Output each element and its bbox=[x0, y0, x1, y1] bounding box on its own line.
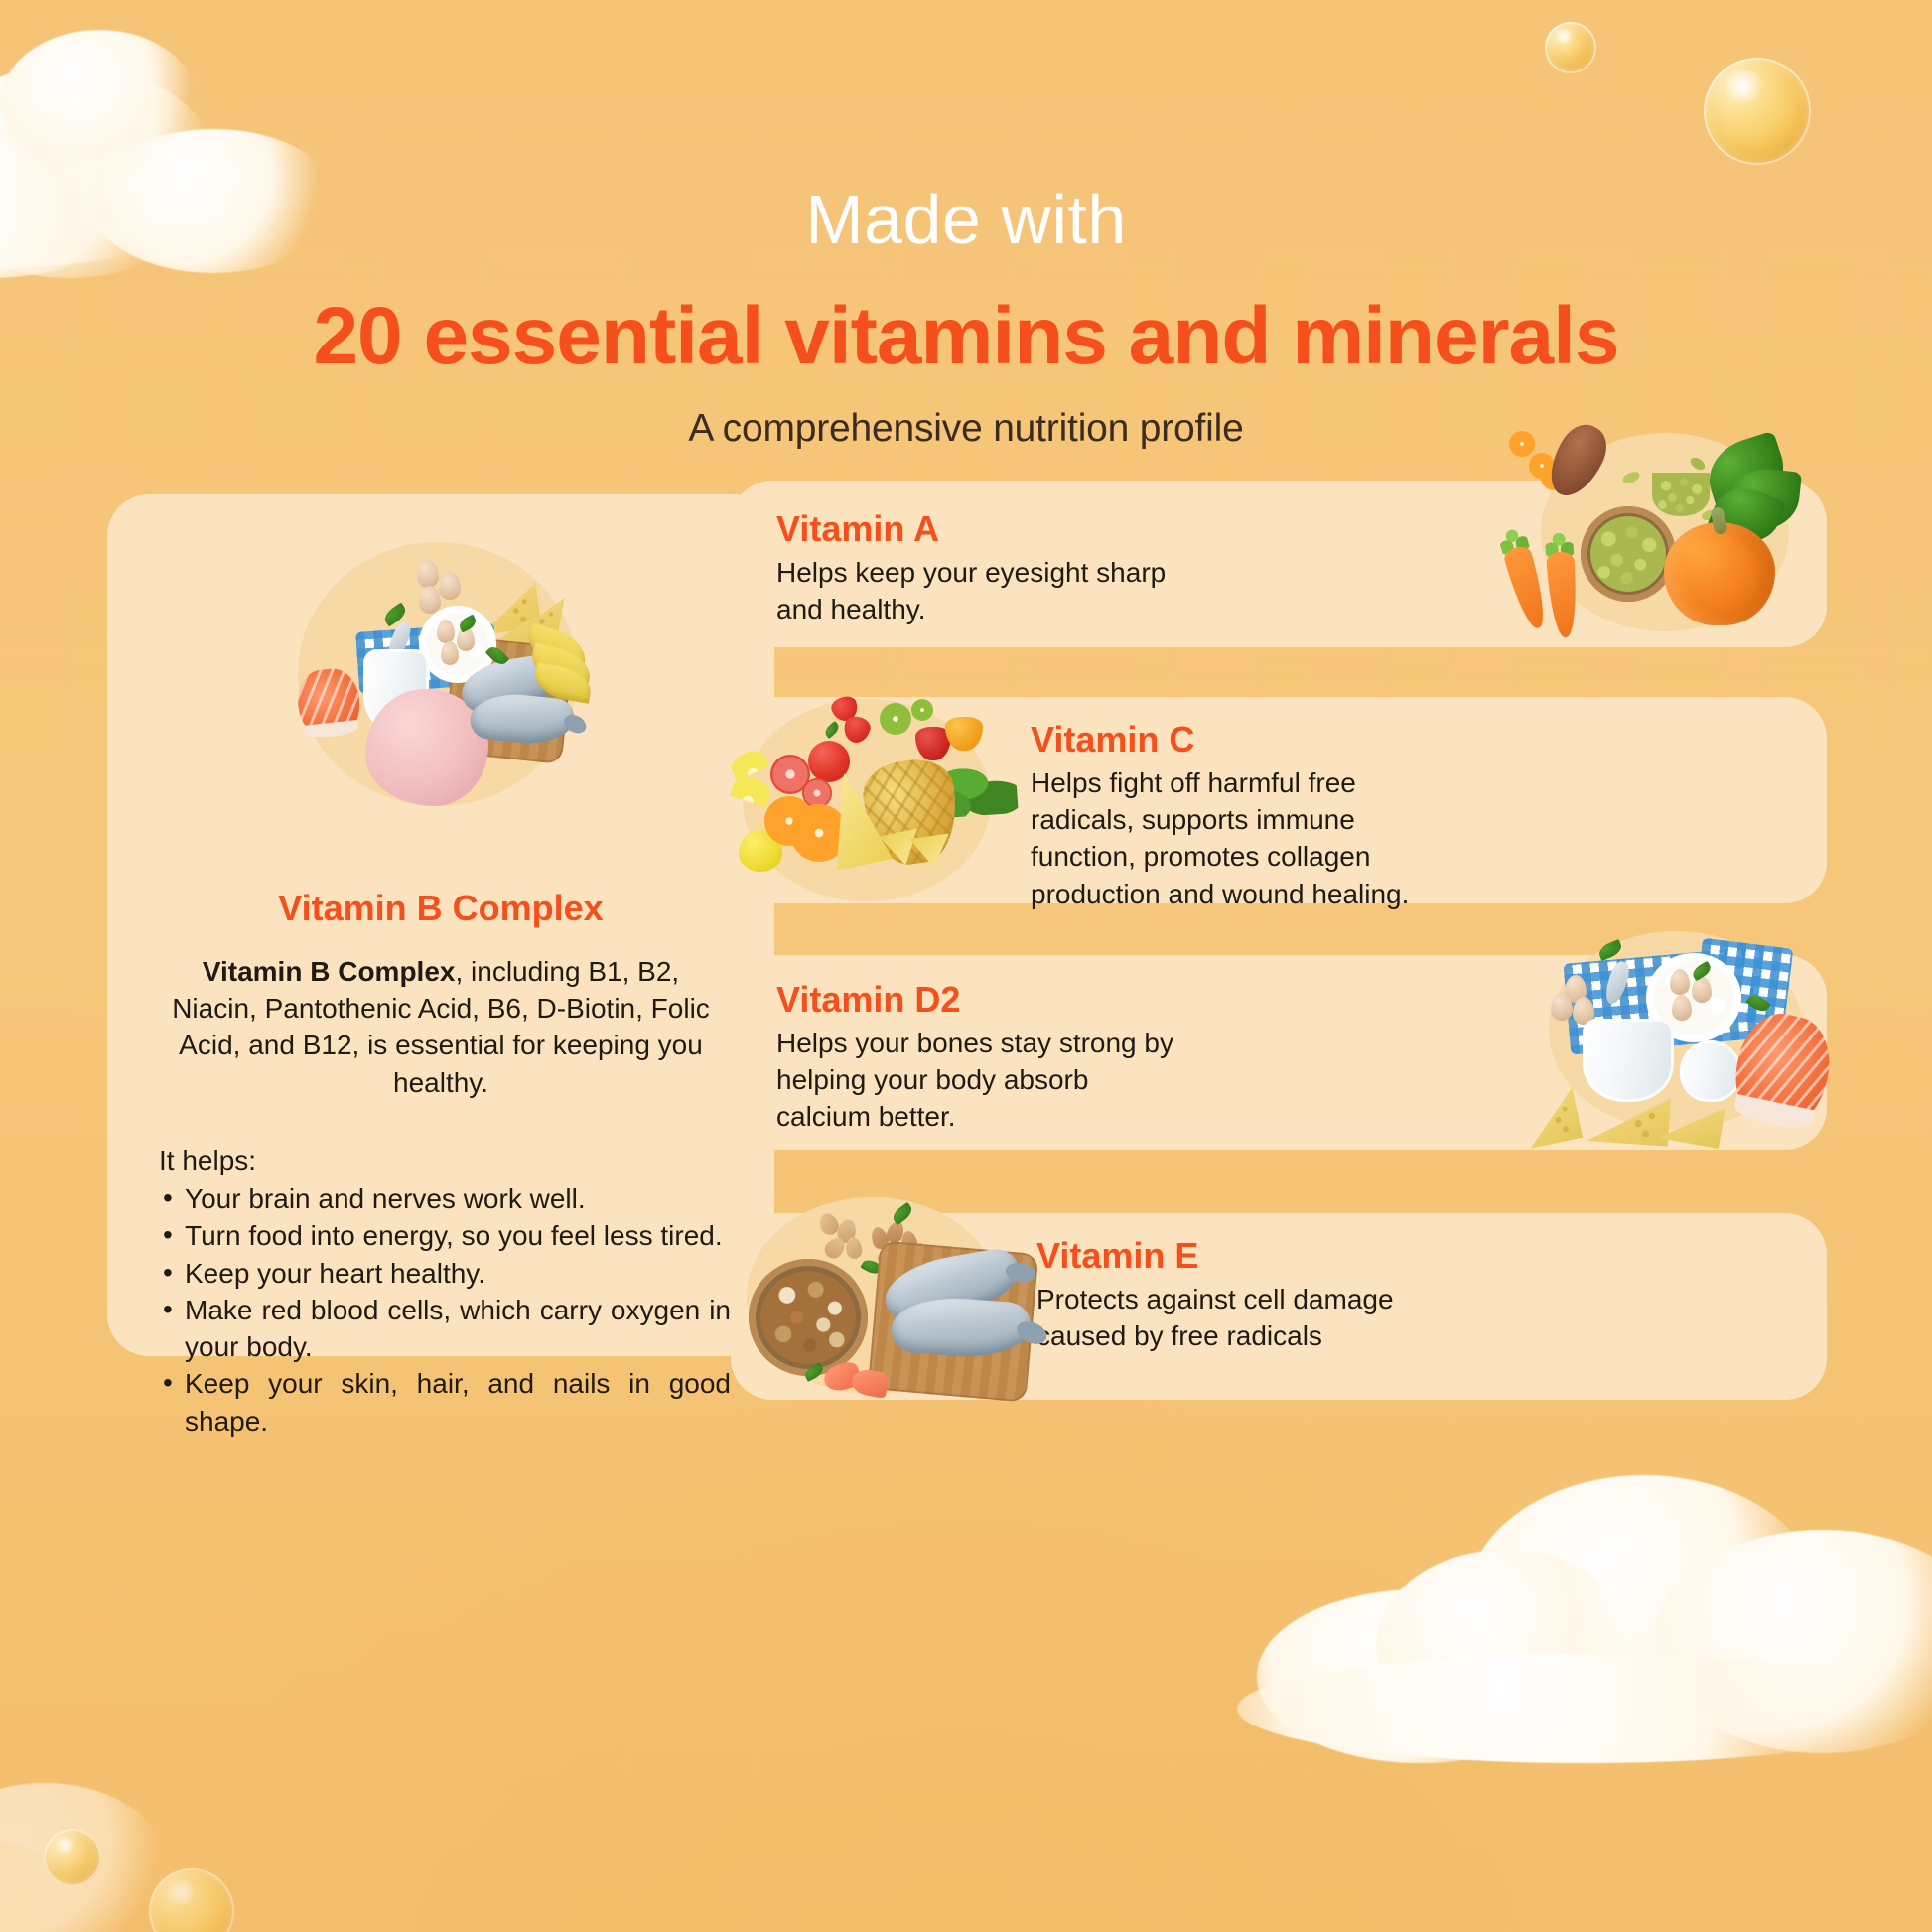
list-item: Turn food into energy, so you feel less … bbox=[159, 1217, 731, 1254]
vitamin-a-card[interactable]: Vitamin A Helps keep your eyesight sharp… bbox=[731, 481, 1827, 647]
vitamin-b-helps-lead: It helps: bbox=[159, 1142, 731, 1178]
vitamin-b-paragraph: Vitamin B Complex, including B1, B2, Nia… bbox=[157, 953, 725, 1101]
vitamin-c-food-illustration bbox=[721, 681, 1019, 919]
vitamin-c-title: Vitamin C bbox=[1031, 719, 1194, 760]
page-title: 20 essential vitamins and minerals bbox=[0, 296, 1932, 377]
header-eyebrow: Made with bbox=[0, 185, 1932, 254]
page-subtitle: A comprehensive nutrition profile bbox=[0, 407, 1932, 451]
list-item: Your brain and nerves work well. bbox=[159, 1180, 731, 1217]
vitamin-e-food-illustration bbox=[717, 1168, 1054, 1416]
vitamin-e-description: Protects against cell damage caused by f… bbox=[1036, 1281, 1463, 1354]
vitamin-d2-card[interactable]: Vitamin D2 Helps your bones stay strong … bbox=[731, 955, 1827, 1150]
list-item: Make red blood cells, which carry oxygen… bbox=[159, 1292, 731, 1365]
vitamin-c-description: Helps fight off harmful free radicals, s… bbox=[1031, 764, 1448, 912]
vitamin-d2-description: Helps your bones stay strong by helping … bbox=[776, 1025, 1173, 1136]
vitamin-b-food-illustration bbox=[292, 524, 590, 822]
vitamin-b-paragraph-bold: Vitamin B Complex bbox=[203, 956, 456, 987]
list-item: Keep your skin, hair, and nails in good … bbox=[159, 1365, 731, 1439]
vitamin-e-card[interactable]: Vitamin E Protects against cell damage c… bbox=[731, 1213, 1827, 1400]
vitamin-d2-title: Vitamin D2 bbox=[776, 979, 960, 1021]
vitamin-c-card[interactable]: Vitamin C Helps fight off harmful free r… bbox=[731, 697, 1827, 903]
vitamin-b-title: Vitamin B Complex bbox=[107, 888, 774, 929]
vitamin-b-helps-list: Your brain and nerves work well. Turn fo… bbox=[159, 1180, 731, 1440]
list-item: Keep your heart healthy. bbox=[159, 1255, 731, 1292]
vitamin-d2-food-illustration bbox=[1513, 897, 1841, 1146]
vitamin-e-title: Vitamin E bbox=[1036, 1235, 1198, 1277]
vitamin-b-helps-block: It helps: Your brain and nerves work wel… bbox=[159, 1142, 731, 1440]
vitamin-b-complex-card[interactable]: Vitamin B Complex Vitamin B Complex, inc… bbox=[107, 494, 774, 1356]
vitamin-a-title: Vitamin A bbox=[776, 508, 939, 550]
page-header: Made with 20 essential vitamins and mine… bbox=[0, 185, 1932, 451]
vitamin-a-description: Helps keep your eyesight sharp and healt… bbox=[776, 554, 1193, 627]
